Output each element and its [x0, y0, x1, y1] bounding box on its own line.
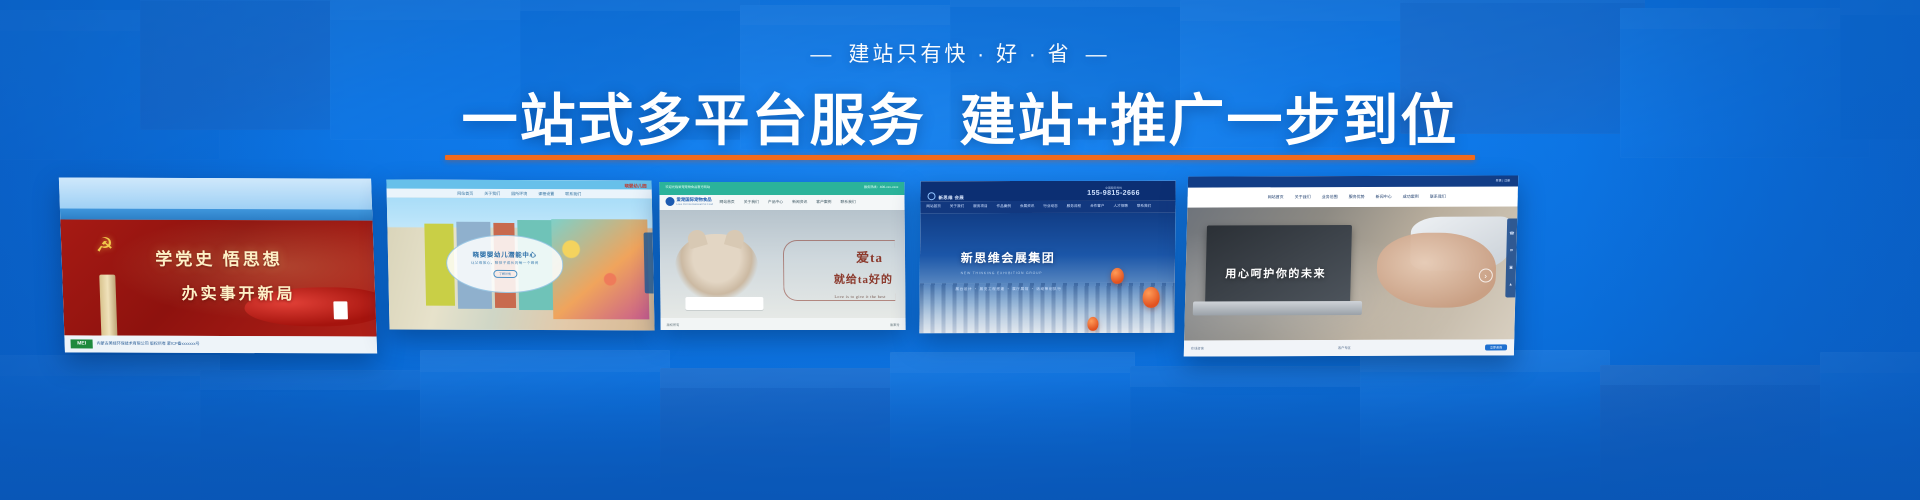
bubble-title: 晓婴婴幼儿潜能中心 [473, 249, 537, 259]
bubble-subtitle: 让父母放心，陪孩子成长的每一个瞬间 [471, 261, 539, 266]
nav-item[interactable]: 园所环境 [511, 190, 527, 196]
showcase-card-party-site[interactable]: MEI 内蒙古美经环保技术有限公司 Inner Mongolia Meijing… [59, 178, 377, 354]
footer-left-text: 版权所有 [667, 322, 680, 327]
nav-item[interactable]: 成功案例 [1403, 193, 1419, 199]
footer-logo: MEI [70, 339, 92, 348]
hero-bubble-callout: 晓婴婴幼儿潜能中心 让父母放心，陪孩子成长的每一个瞬间 了解详情 [446, 235, 564, 293]
showcase-card-expo-site[interactable]: 新思维 会展 NEW THINKING EXHIBITION GROUP 全国服… [919, 181, 1175, 333]
laptop-graphic [1205, 225, 1352, 303]
nav-item[interactable]: 业务范围 [1322, 194, 1338, 200]
footer-center-text: 客户专区 [1338, 345, 1351, 350]
nav-item[interactable]: 网站首页 [926, 205, 940, 210]
headline-underline-accent [445, 155, 1475, 160]
nav-item[interactable]: 服务流程 [1067, 204, 1081, 209]
site-screenshot: MEI 内蒙古美经环保技术有限公司 Inner Mongolia Meijing… [59, 178, 377, 354]
hero-headline-line2: 办实事开新局 [181, 280, 296, 304]
hero-slogan-line1: 爱ta [856, 247, 883, 266]
nav-item[interactable]: 联系我们 [565, 191, 581, 197]
site-screenshot: 网站首页 关于我们 园所环境 课程设置 联系我们 晓婴幼儿园 晓婴婴幼儿潜能中心… [386, 180, 654, 331]
floating-sidebar[interactable] [644, 233, 654, 294]
nav-item[interactable]: 关于我们 [484, 190, 500, 196]
nav-item[interactable]: 客户案例 [816, 200, 831, 205]
nav-item[interactable]: 新闻资讯 [792, 200, 807, 205]
mural-graphic [552, 219, 650, 320]
bubble-button[interactable]: 了解详情 [493, 270, 517, 278]
site-header [59, 178, 373, 221]
nav-item[interactable]: 关于我们 [950, 204, 964, 209]
nav-item[interactable]: 合作客户 [1090, 204, 1104, 209]
site-hero-banner: 新思维会展集团 NEW THINKING EXHIBITION GROUP 展台… [919, 213, 1175, 334]
site-logo: 爱宠国际宠物食品 Love Pet International Pet Food [665, 197, 713, 206]
nav-item[interactable]: 联系我们 [1137, 204, 1151, 209]
nav-item[interactable]: 服务项目 [973, 204, 987, 209]
floating-sidebar[interactable]: ☎ ✉ ▣ ▲ [1505, 219, 1517, 298]
brand-name: 爱宠国际宠物食品 [676, 197, 713, 202]
headline-part-2: 建站+推广一步到位 [960, 89, 1459, 152]
footer-cta-button[interactable]: 立即咨询 [1485, 344, 1507, 350]
monument-graphic [100, 275, 118, 340]
header-phone-block: 全国服务热线 155-9815-2666 [1087, 185, 1140, 196]
site-screenshot: 欢迎光临爱宠宠物食品官方网站 服务热线：400-xxx-xxxx 网站首页 关于… [659, 182, 905, 330]
phone-label: 全国服务热线 [1087, 185, 1140, 189]
nav-item[interactable]: 服务优势 [1349, 194, 1365, 200]
subtitle-dash-left: — [796, 44, 848, 65]
hand-graphic [1376, 233, 1497, 308]
nav-item[interactable]: 行业动态 [1043, 204, 1057, 209]
site-screenshot: 登录 | 注册 中经信用服务集团 ZHONG JING CREDIT SERVI… [1184, 175, 1519, 356]
nav-item[interactable]: 关于我们 [744, 200, 759, 205]
headline-block: —建站只有快 · 好 · 省— 一站式多平台服务建站+推广一步到位 [0, 44, 1920, 151]
pet-bowl-graphic [685, 297, 764, 310]
nav-item[interactable]: 网站首页 [720, 200, 735, 205]
brand-name: 新思维 会展 [938, 195, 964, 200]
topbar-phone-text: 服务热线：400-xxx-xxxx [864, 184, 899, 189]
site-logo: 晓婴幼儿园 [625, 183, 647, 189]
site-footer: 在线咨询 客户专区 立即咨询 [1184, 339, 1515, 356]
nav-item[interactable]: 新闻中心 [1376, 194, 1392, 200]
headline-part-1: 一站式多平台服务 [462, 89, 926, 152]
footer-text: 内蒙古美经环保技术有限公司 版权所有 蒙ICP备xxxxxxx号 [97, 341, 200, 347]
subtitle-text: 建站只有快 · 好 · 省 [848, 43, 1071, 66]
hero-banner: —建站只有快 · 好 · 省— 一站式多平台服务建站+推广一步到位 MEI 内蒙… [0, 0, 1920, 500]
showcase-card-pet-site[interactable]: 欢迎光临爱宠宠物食品官方网站 服务热线：400-xxx-xxxx 网站首页 关于… [659, 182, 905, 330]
wechat-icon[interactable]: ▣ [1509, 264, 1513, 269]
site-hero-banner: ☭ 学党史 悟思想 办实事开新局 [60, 219, 376, 336]
nav-item[interactable]: 联系我们 [1430, 193, 1446, 199]
showcase-card-kindergarten-site[interactable]: 网站首页 关于我们 园所环境 课程设置 联系我们 晓婴幼儿园 晓婴婴幼儿潜能中心… [386, 180, 654, 331]
message-icon[interactable]: ✉ [1510, 247, 1513, 252]
site-footer: MEI 内蒙古美经环保技术有限公司 版权所有 蒙ICP备xxxxxxx号 [64, 335, 377, 354]
balloon-graphic [1111, 268, 1124, 284]
hero-slogan-line2: 就给ta好的 [834, 271, 893, 287]
showcase-card-row: MEI 内蒙古美经环保技术有限公司 Inner Mongolia Meijing… [0, 168, 1920, 378]
subtitle-dash-right: — [1072, 44, 1124, 65]
footer-right-text: 备案号 [890, 322, 900, 327]
nav-item[interactable]: 作品案例 [997, 204, 1011, 209]
nav-item[interactable]: 会展资讯 [1020, 204, 1034, 209]
nav-item[interactable]: 产品中心 [768, 200, 783, 205]
cat-photo-graphic [674, 234, 758, 301]
qr-code-graphic [333, 302, 348, 320]
hero-service-tags: 展台设计 ・ 展览工程搭建 ・ 展厅展馆 ・ 活动策划执行 [955, 287, 1061, 292]
site-hero-banner: 爱ta 就给ta好的 Love is to give it the best [660, 210, 906, 318]
nav-item[interactable]: 人才招聘 [1113, 204, 1127, 209]
hero-slogan-en: Love is to give it the best [834, 294, 885, 299]
site-screenshot: 新思维 会展 NEW THINKING EXHIBITION GROUP 全国服… [919, 181, 1175, 333]
nav-item[interactable]: 课程设置 [538, 191, 554, 197]
topbar-welcome-text: 欢迎光临爱宠宠物食品官方网站 [665, 184, 710, 189]
site-hero-banner: 用心呵护你的未来 › [1184, 206, 1517, 340]
site-footer: 版权所有 备案号 [661, 318, 906, 330]
site-hero-banner: 晓婴婴幼儿潜能中心 让父母放心，陪孩子成长的每一个瞬间 了解详情 [387, 198, 655, 331]
phone-number: 155-9815-2666 [1087, 189, 1140, 196]
balloon-graphic [1087, 317, 1098, 331]
nav-item[interactable]: 网站首页 [1268, 194, 1284, 200]
nav-item[interactable]: 关于我们 [1295, 194, 1311, 200]
nav-item[interactable]: 联系我们 [840, 200, 855, 205]
brand-name-en: Love Pet International Pet Food [677, 203, 714, 206]
nav-item[interactable]: 网站首页 [457, 190, 473, 196]
logo-mark-icon [927, 192, 935, 200]
site-nav[interactable]: 网站首页 关于我们 服务项目 作品案例 会展资讯 行业动态 服务流程 合作客户 … [920, 201, 1175, 214]
balloon-graphic [1142, 287, 1159, 308]
logo-mark-icon [665, 197, 674, 206]
party-emblem-icon: ☭ [95, 236, 122, 258]
hero-slogan: 用心呵护你的未来 [1225, 265, 1326, 281]
phone-icon[interactable]: ☎ [1509, 230, 1514, 235]
banner-headline: 一站式多平台服务建站+推广一步到位 [462, 91, 1459, 151]
hero-headline-line1: 学党史 悟思想 [155, 245, 283, 270]
hero-title: 新思维会展集团 [961, 249, 1056, 266]
topbar-auth-links[interactable]: 登录 | 注册 [1496, 179, 1511, 183]
site-nav[interactable]: 网站首页 关于我们 业务范围 服务优势 新闻中心 成功案例 联系我们 [1187, 186, 1518, 207]
banner-subtitle: —建站只有快 · 好 · 省— [0, 44, 1920, 65]
hero-subtitle: NEW THINKING EXHIBITION GROUP [961, 271, 1043, 275]
footer-left-text[interactable]: 在线咨询 [1191, 346, 1204, 351]
back-to-top-icon[interactable]: ▲ [1509, 281, 1513, 286]
showcase-card-business-site[interactable]: 登录 | 注册 中经信用服务集团 ZHONG JING CREDIT SERVI… [1184, 175, 1519, 356]
